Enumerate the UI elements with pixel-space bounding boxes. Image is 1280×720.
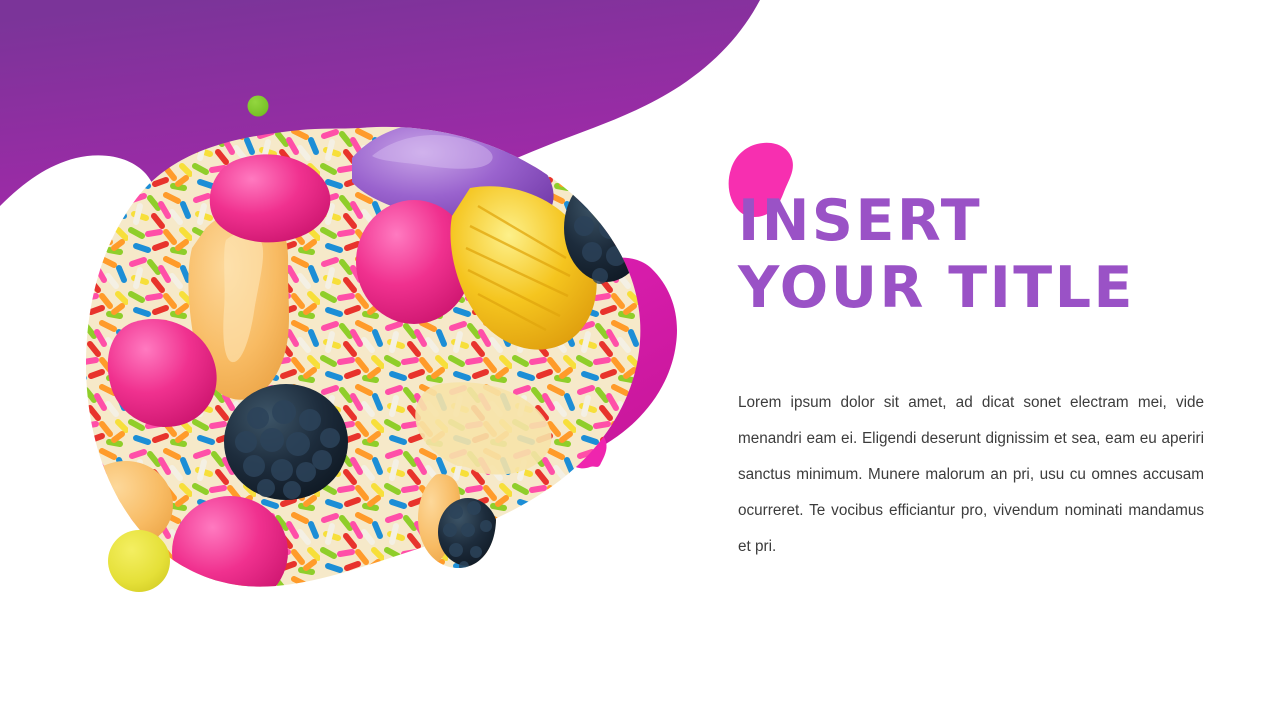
- bean-accent-spacer: [738, 130, 1208, 188]
- text-content-panel: INSERT YOUR TITLE Lorem ipsum dolor sit …: [738, 130, 1208, 565]
- blackberry-gummy: [224, 384, 348, 500]
- yellow-ball-accent: [108, 530, 170, 592]
- slide-canvas: INSERT YOUR TITLE Lorem ipsum dolor sit …: [0, 0, 1280, 720]
- body-paragraph: Lorem ipsum dolor sit amet, ad dicat son…: [738, 323, 1204, 565]
- page-title: INSERT YOUR TITLE: [738, 188, 1208, 323]
- pink-berry-gummy-bottom: [172, 496, 288, 608]
